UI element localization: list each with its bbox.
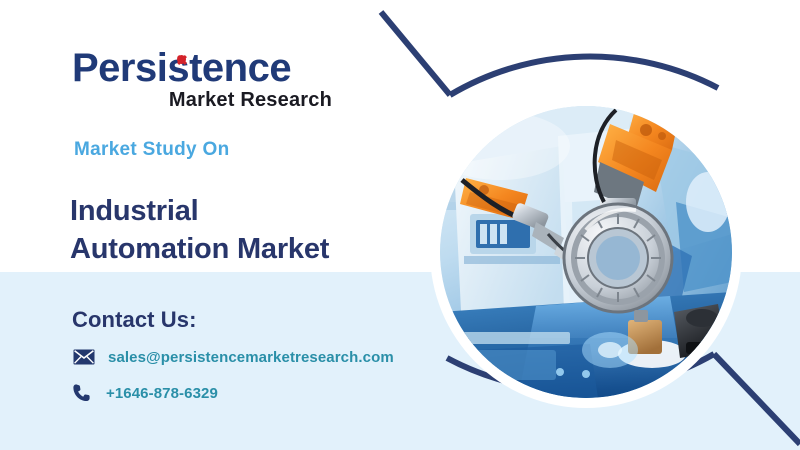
envelope-icon: [72, 347, 96, 367]
contact-heading: Contact Us:: [72, 307, 197, 333]
roller-bearing: [564, 204, 672, 312]
brand-tagline: Market Research: [72, 90, 332, 110]
page-title: Industrial Automation Market: [70, 192, 329, 269]
contact-email-row[interactable]: sales@persistencemarketresearch.com: [72, 347, 394, 367]
brand-logo[interactable]: Persistence Market Research: [72, 48, 332, 110]
marketing-banner: Persistence Market Research Market Study…: [0, 0, 800, 450]
logo-star-icon: [177, 55, 186, 64]
contact-phone-row[interactable]: +1646-878-6329: [70, 383, 218, 403]
eyebrow-text: Market Study On: [74, 139, 229, 161]
contact-email-text: sales@persistencemarketresearch.com: [108, 349, 394, 366]
brand-name: Persistence: [72, 48, 332, 88]
hero-photo: [440, 106, 732, 398]
contact-phone-text: +1646-878-6329: [106, 385, 218, 402]
phone-icon: [70, 383, 94, 403]
industrial-automation-illustration: [440, 106, 732, 398]
